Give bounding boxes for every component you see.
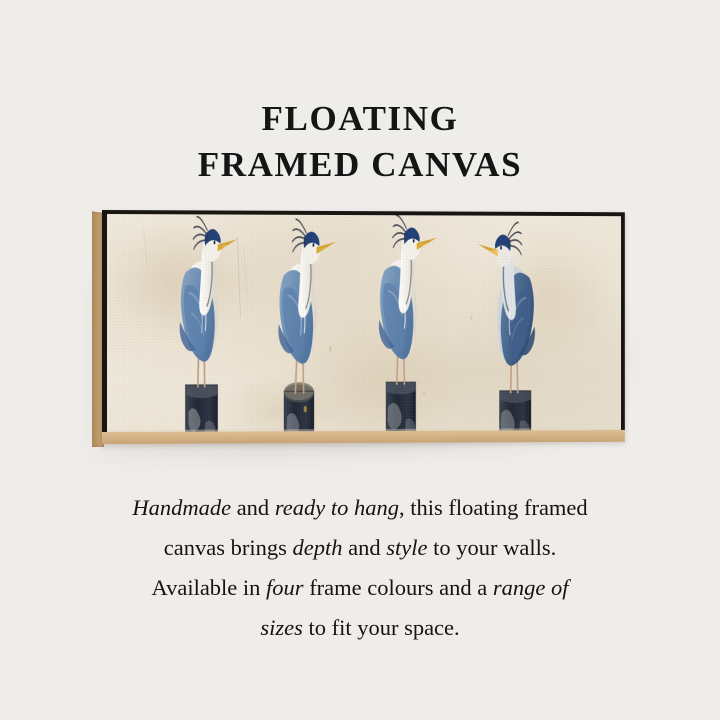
page-title-line-1: FLOATING: [0, 96, 720, 142]
description-line-4: sizes to fit your space.: [0, 608, 720, 648]
page-title: FLOATING FRAMED CANVAS: [0, 96, 720, 188]
emphasis-style: style: [386, 535, 427, 560]
emphasis-range-of: range of: [493, 575, 569, 600]
description-line-3: Available in four frame colours and a ra…: [0, 568, 720, 608]
float-shadow-gap: [102, 210, 625, 444]
emphasis-depth: depth: [292, 535, 342, 560]
emphasis-handmade: Handmade: [132, 495, 231, 520]
framed-canvas-product-image[interactable]: [88, 202, 636, 452]
emphasis-sizes: sizes: [260, 615, 303, 640]
description-line-2: canvas brings depth and style to your wa…: [0, 528, 720, 568]
heron-2-head: [292, 219, 336, 264]
emphasis-four: four: [266, 575, 304, 600]
page-title-line-2: FRAMED CANVAS: [0, 142, 720, 188]
product-description: Handmade and ready to hang, this floatin…: [0, 488, 720, 648]
canvas-artwork: [107, 214, 621, 439]
heron-3-head: [393, 215, 438, 260]
floating-frame[interactable]: [102, 210, 625, 444]
heron-painting: [107, 214, 621, 439]
emphasis-ready-to-hang: ready to hang: [275, 495, 399, 520]
description-line-1: Handmade and ready to hang, this floatin…: [0, 488, 720, 528]
